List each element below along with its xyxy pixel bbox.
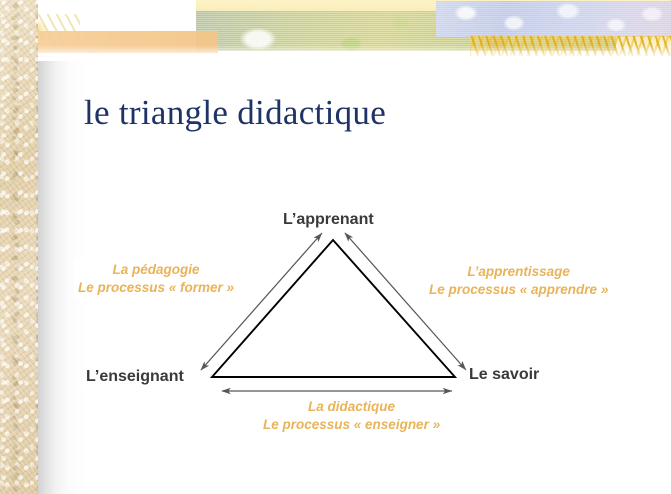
slide-canvas: le triangle didactique L’apprenant L’	[0, 0, 671, 494]
arrow-apprentissage	[345, 233, 466, 370]
vertex-label-savoir: Le savoir	[466, 365, 542, 385]
relation-didactique-line1: La didactique	[263, 398, 440, 416]
relation-label-pedagogie: La pédagogie Le processus « former »	[74, 259, 238, 299]
didactic-triangle-diagram: L’apprenant L’enseignant Le savoir La pé…	[0, 0, 671, 494]
relation-apprentissage-line1: L’apprentissage	[429, 263, 608, 281]
arrow-pedagogie	[201, 233, 322, 370]
relation-apprentissage-line2: Le processus « apprendre »	[429, 281, 608, 299]
relation-pedagogie-line2: Le processus « former »	[78, 279, 234, 297]
vertex-label-apprenant: L’apprenant	[280, 210, 377, 230]
vertex-label-enseignant: L’enseignant	[83, 367, 187, 387]
relation-didactique-line2: Le processus « enseigner »	[263, 416, 440, 434]
triangle-outline	[212, 240, 455, 377]
relation-label-didactique: La didactique Le processus « enseigner »	[259, 396, 444, 436]
relation-pedagogie-line1: La pédagogie	[78, 261, 234, 279]
relation-label-apprentissage: L’apprentissage Le processus « apprendre…	[425, 261, 612, 301]
